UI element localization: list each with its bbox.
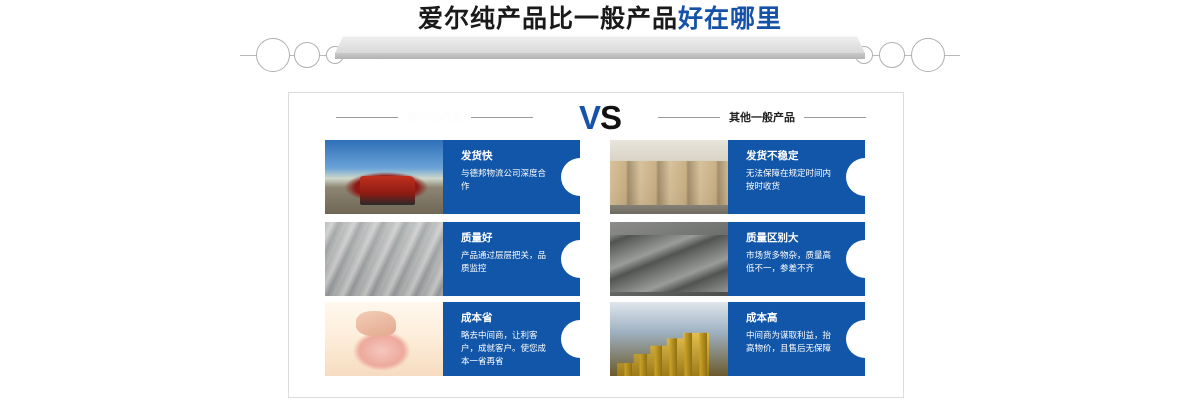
right-side-label: 其他一般产品 [658, 109, 866, 125]
medium-circle-icon [879, 42, 905, 68]
card-image-stacked-grey-plastic-pipes [610, 222, 728, 296]
title-plate-edge [335, 53, 865, 59]
card-image-warehouse-with-stacked-cartons [610, 140, 728, 214]
card-notch-circle [561, 158, 580, 196]
card-item[interactable]: 发货快 与德邦物流公司深度合作 [325, 140, 580, 214]
card-item[interactable]: 成本省 略去中间商，让利客户，成就客户。使您成本一省再省 [325, 302, 580, 376]
card-body: 质量好 产品通过层层把关，品质监控 [443, 222, 580, 296]
card-image-stainless-steel-filter-tubes [325, 222, 443, 296]
card-image-hand-stacking-gold-coin-piles [610, 302, 728, 376]
card-item[interactable]: 发货不稳定 无法保障在规定时间内按时收货 [610, 140, 865, 214]
card-body: 成本省 略去中间商，让利客户，成就客户。使您成本一省再省 [443, 302, 580, 376]
card-title: 发货快 [461, 149, 554, 163]
card-title: 成本高 [746, 311, 839, 325]
left-label-line-end [471, 117, 533, 118]
card-notch-circle [846, 320, 865, 358]
card-description: 中间商为谋取利益，抬高物价，且售后无保障 [746, 330, 839, 356]
card-title: 质量好 [461, 231, 554, 245]
large-circle-icon [911, 38, 945, 72]
card-description: 略去中间商，让利客户，成就客户。使您成本一省再省 [461, 330, 554, 369]
page-header: 爱尔纯产品比一般产品好在哪里 [0, 0, 1200, 86]
page-title-accent: 好在哪里 [678, 4, 782, 33]
left-label-text: 爱尔纯产品 [407, 109, 462, 125]
right-label-text: 其他一般产品 [729, 109, 795, 125]
card-body: 质量区别大 市场货多物杂，质量高低不一，参差不齐 [728, 222, 865, 296]
card-description: 与德邦物流公司深度合作 [461, 168, 554, 194]
card-image-red-truck-on-highway [325, 140, 443, 214]
large-circle-icon [256, 38, 290, 72]
card-title: 成本省 [461, 311, 554, 325]
vs-bar: 爱尔纯产品 VS 其他一般产品 [288, 96, 904, 140]
vs-badge: VS [565, 98, 635, 138]
right-label-line-end [804, 117, 866, 118]
card-description: 市场货多物杂，质量高低不一，参差不齐 [746, 250, 839, 276]
card-notch-circle [561, 320, 580, 358]
card-notch-circle [561, 240, 580, 278]
medium-circle-icon [294, 42, 320, 68]
left-label-line-start [336, 117, 398, 118]
column-ours: 发货快 与德邦物流公司深度合作 质量好 产品通过层层把关，品质监控 成本省 略去… [325, 140, 580, 388]
card-item[interactable]: 成本高 中间商为谋取利益，抬高物价，且售后无保障 [610, 302, 865, 376]
card-title: 发货不稳定 [746, 149, 839, 163]
page-title: 爱尔纯产品比一般产品好在哪里 [335, 2, 865, 36]
card-notch-circle [846, 240, 865, 278]
card-body: 发货快 与德邦物流公司深度合作 [443, 140, 580, 214]
card-body: 成本高 中间商为谋取利益，抬高物价，且售后无保障 [728, 302, 865, 376]
card-image-hand-dropping-coin-into-piggy-bank [325, 302, 443, 376]
comparison-columns: 发货快 与德邦物流公司深度合作 质量好 产品通过层层把关，品质监控 成本省 略去… [288, 140, 904, 388]
right-label-line-start [658, 117, 720, 118]
card-description: 无法保障在规定时间内按时收货 [746, 168, 839, 194]
card-description: 产品通过层层把关，品质监控 [461, 250, 554, 276]
left-side-label: 爱尔纯产品 [336, 109, 533, 125]
page-title-main: 爱尔纯产品比一般产品 [418, 4, 678, 33]
vs-letter-s: S [600, 99, 621, 136]
card-item[interactable]: 质量好 产品通过层层把关，品质监控 [325, 222, 580, 296]
card-item[interactable]: 质量区别大 市场货多物杂，质量高低不一，参差不齐 [610, 222, 865, 296]
card-body: 发货不稳定 无法保障在规定时间内按时收货 [728, 140, 865, 214]
card-title: 质量区别大 [746, 231, 839, 245]
vs-letter-v: V [579, 99, 600, 136]
card-notch-circle [846, 158, 865, 196]
column-others: 发货不稳定 无法保障在规定时间内按时收货 质量区别大 市场货多物杂，质量高低不一… [610, 140, 865, 388]
